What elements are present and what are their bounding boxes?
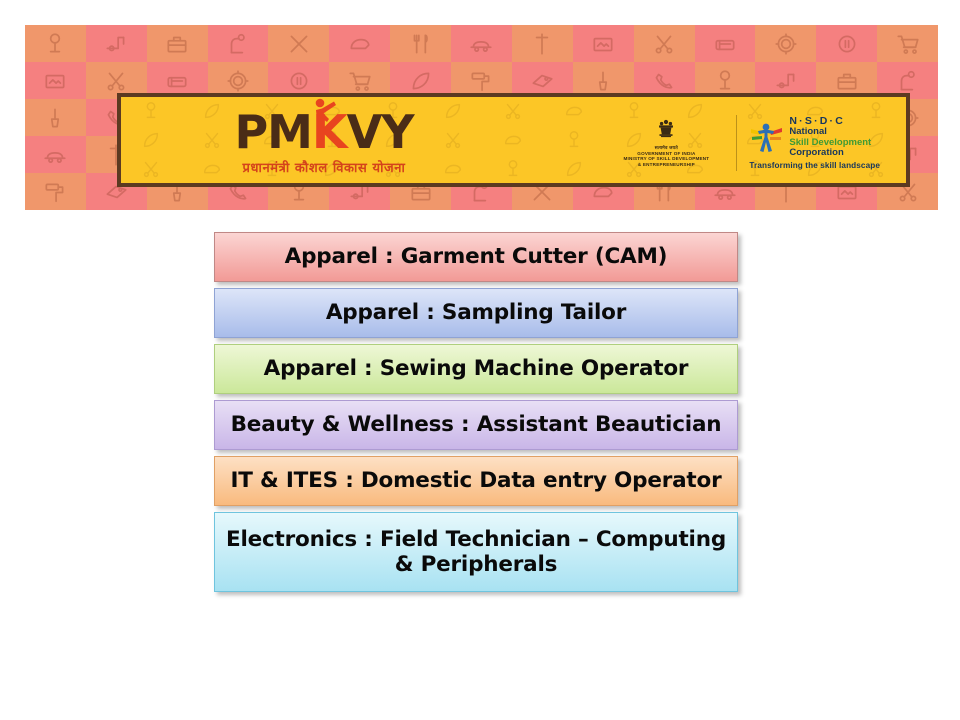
- microphone-icon: [25, 25, 86, 62]
- cross-tools-icon: [268, 25, 329, 62]
- hand-flower-icon: [208, 25, 269, 62]
- course-list: Apparel : Garment Cutter (CAM)Apparel : …: [214, 232, 738, 598]
- picture-frame-icon: [573, 25, 634, 62]
- pmkvy-banner: PMKVY प्रधानमंत्री कौशल विकास योजना: [25, 25, 938, 210]
- sewing-machine-icon: [86, 25, 147, 62]
- course-box-sampling-tailor[interactable]: Apparel : Sampling Tailor: [214, 288, 738, 338]
- course-box-garment-cutter[interactable]: Apparel : Garment Cutter (CAM): [214, 232, 738, 282]
- car-icon: [25, 136, 86, 173]
- watermark-leaf-icon: [121, 126, 181, 155]
- brush-icon: [25, 99, 86, 136]
- scissors-icon: [634, 25, 695, 62]
- running-person-icon: [307, 98, 341, 124]
- paint-roller-icon: [25, 173, 86, 210]
- logo-divider: [736, 115, 737, 171]
- pmkvy-vy-text: VY: [347, 105, 414, 159]
- helmet-icon: [329, 25, 390, 62]
- pause-circle-icon: [816, 25, 877, 62]
- watermark-microphone-icon: [483, 154, 543, 183]
- pmkvy-word: PMKVY: [179, 107, 469, 157]
- watermark-helmet-icon: [544, 97, 604, 126]
- watermark-helmet-icon: [483, 126, 543, 155]
- course-box-field-technician[interactable]: Electronics : Field Technician – Computi…: [214, 512, 738, 592]
- shopping-cart-icon: [877, 25, 938, 62]
- pmkvy-pm-text: PM: [234, 105, 312, 159]
- sofa-icon: [695, 25, 756, 62]
- toolbox-icon: [147, 25, 208, 62]
- nsdc-logo: N·S·D·C National Skill Development Corpo…: [749, 116, 880, 170]
- course-box-sewing-machine-operator[interactable]: Apparel : Sewing Machine Operator: [214, 344, 738, 394]
- pmkvy-hindi-subtitle: प्रधानमंत्री कौशल विकास योजना: [179, 158, 469, 176]
- pmkvy-logo-panel: PMKVY प्रधानमंत्री कौशल विकास योजना: [117, 93, 910, 187]
- partner-logos: सत्यमेव जयते GOVERNMENT OF INDIA MINISTR…: [608, 102, 880, 184]
- nsdc-tagline: Transforming the skill landscape: [749, 161, 880, 170]
- gov-line-3: & ENTREPRENEURSHIP: [638, 162, 695, 168]
- course-box-data-entry-operator[interactable]: IT & ITES : Domestic Data entry Operator: [214, 456, 738, 506]
- watermark-scissors-icon: [483, 97, 543, 126]
- nsdc-word-corporation: Corporation: [789, 148, 871, 158]
- watermark-microphone-icon: [121, 97, 181, 126]
- cutlery-icon: [390, 25, 451, 62]
- watermark-scissors-icon: [121, 154, 181, 183]
- hammer-icon: [512, 25, 573, 62]
- car-icon: [451, 25, 512, 62]
- watermark-leaf-icon: [544, 154, 604, 183]
- government-of-india-emblem: सत्यमेव जयते GOVERNMENT OF INDIA MINISTR…: [608, 118, 724, 168]
- gear-icon: [755, 25, 816, 62]
- ashoka-emblem-icon: [656, 118, 676, 144]
- picture-frame-icon: [25, 62, 86, 99]
- nsdc-word-national: National: [789, 127, 871, 137]
- course-box-assistant-beautician[interactable]: Beauty & Wellness : Assistant Beautician: [214, 400, 738, 450]
- watermark-microphone-icon: [544, 126, 604, 155]
- nsdc-person-icon: [749, 120, 783, 154]
- pmkvy-wordmark: PMKVY प्रधानमंत्री कौशल विकास योजना: [179, 107, 469, 176]
